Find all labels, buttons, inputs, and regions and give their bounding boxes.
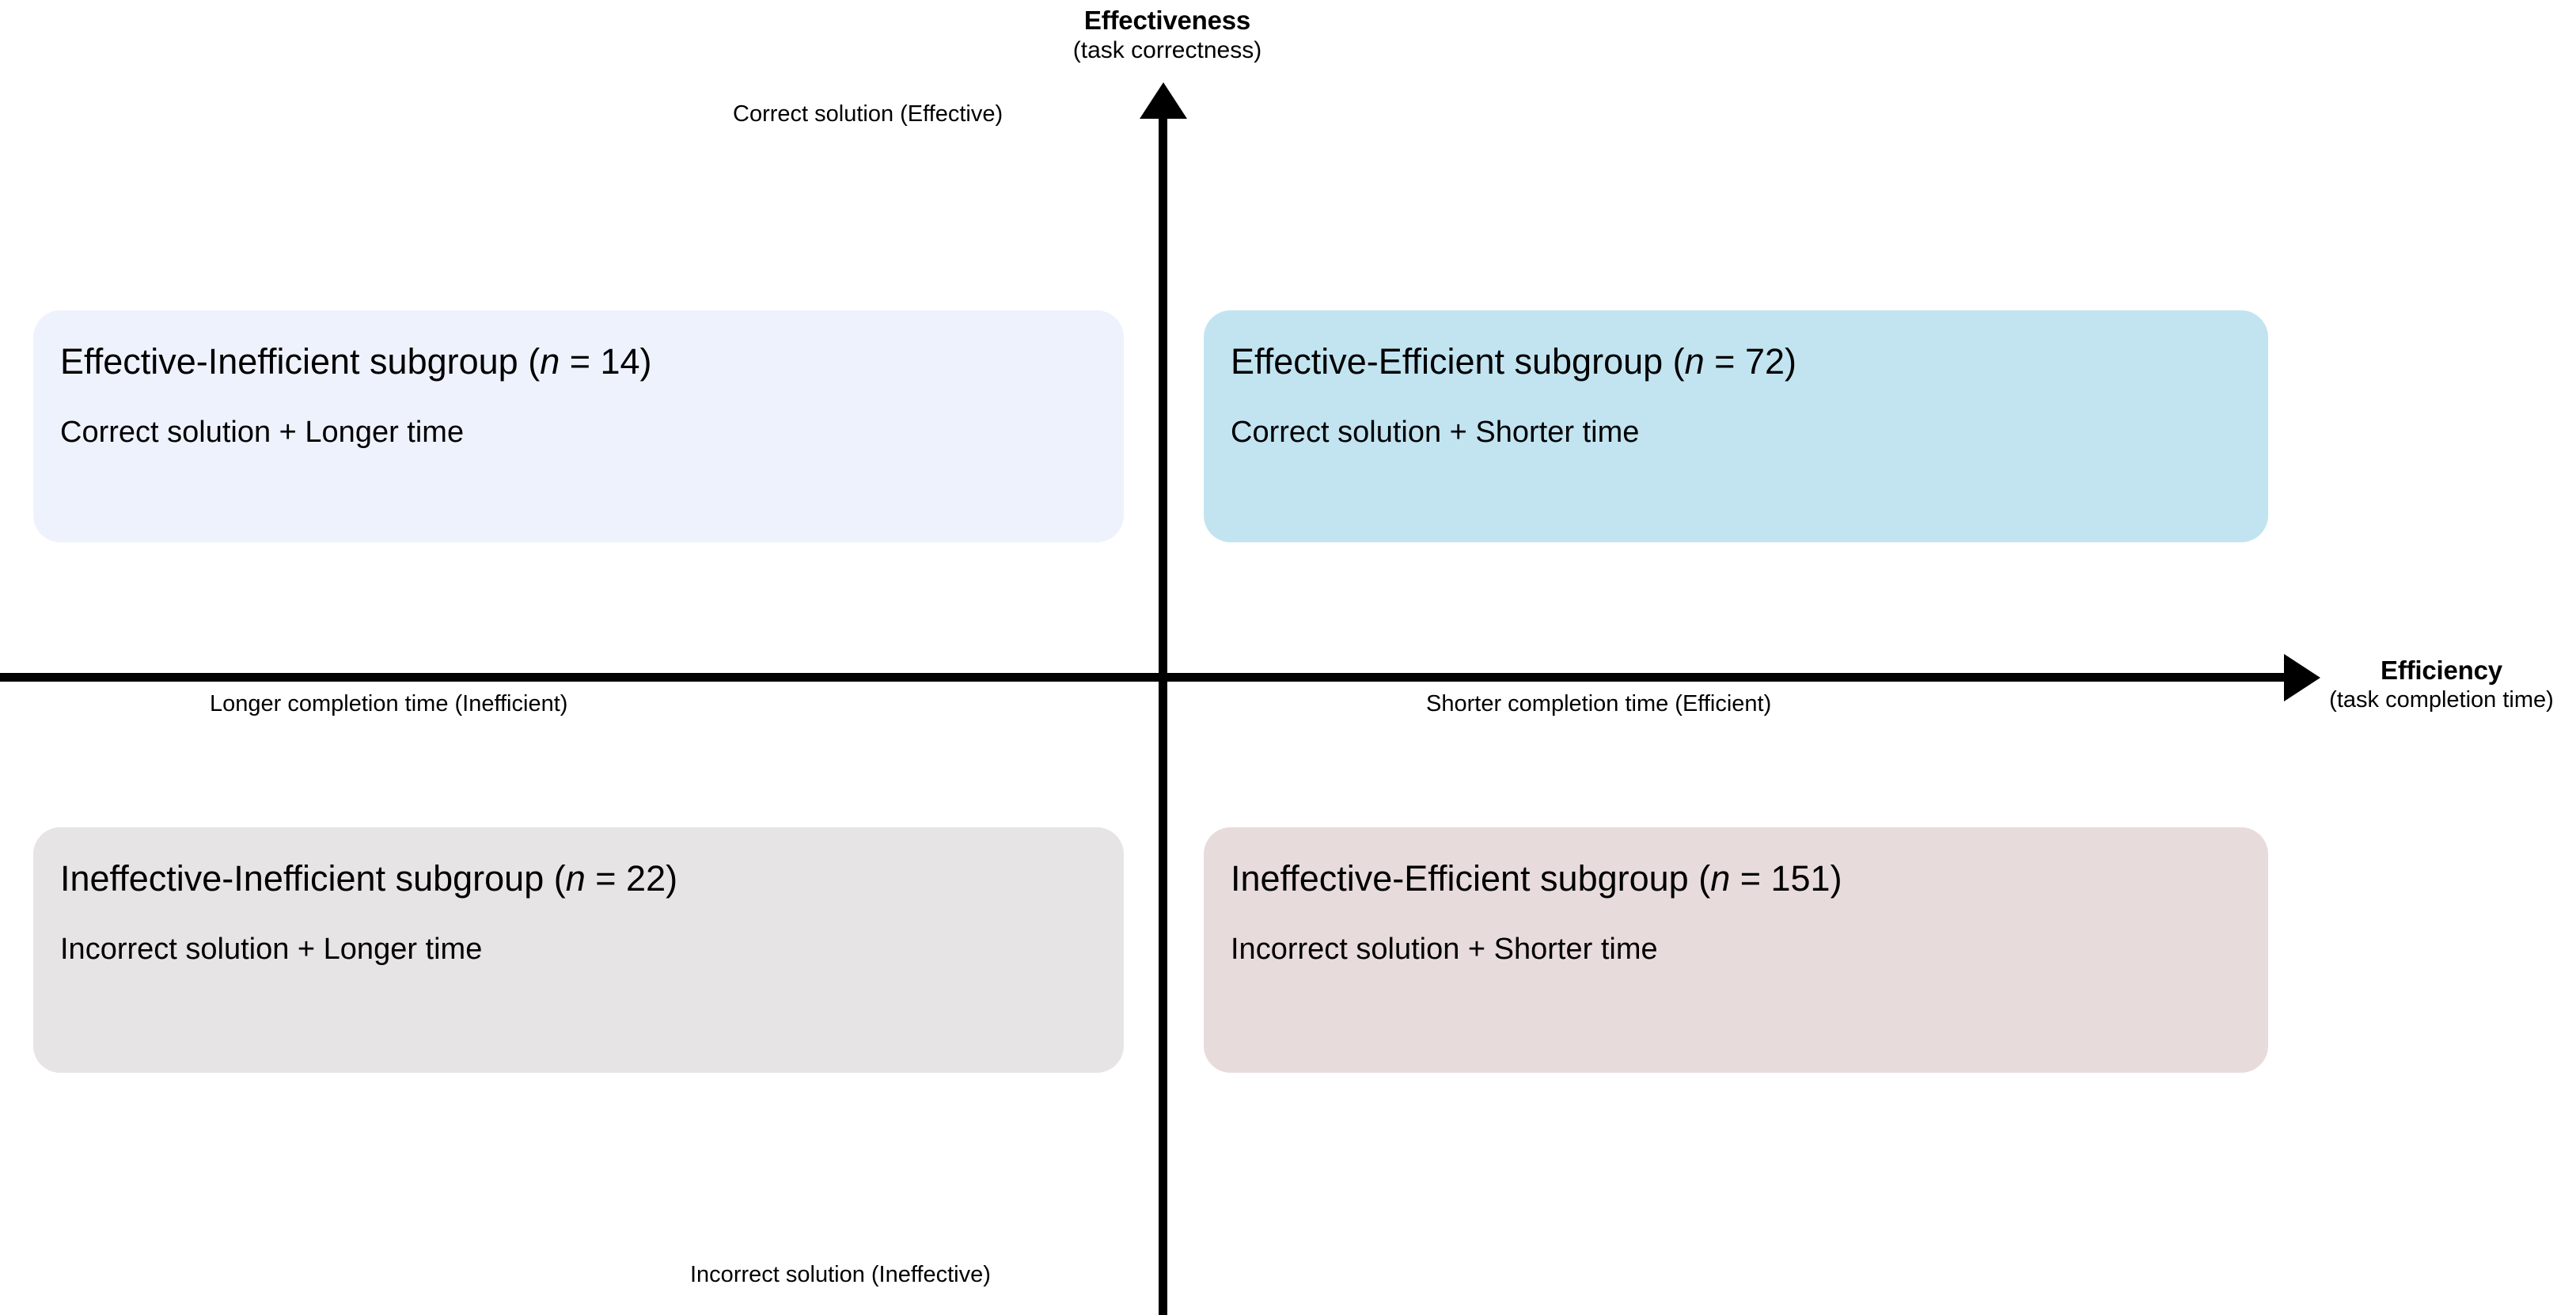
quadrant-title-prefix: Ineffective-Inefficient subgroup ( — [60, 858, 566, 899]
y-axis-title-main: Effectiveness — [819, 5, 1516, 36]
y-axis-positive-pole-label: Correct solution (Effective) — [733, 103, 1003, 126]
y-axis-arrow-icon — [1140, 82, 1187, 119]
x-axis-line — [0, 673, 2303, 682]
y-axis-title-subtitle: (task correctness) — [819, 36, 1516, 66]
quadrant-title-prefix: Ineffective-Efficient subgroup ( — [1231, 858, 1710, 899]
quadrant-n-symbol: n — [540, 341, 560, 382]
quadrant-title-prefix: Effective-Efficient subgroup ( — [1231, 341, 1685, 382]
quadrant-n-symbol: n — [1685, 341, 1705, 382]
quadrant-diagram-canvas: Effectiveness (task correctness) Efficie… — [0, 0, 2576, 1315]
x-axis-title: Efficiency (task completion time) — [2307, 655, 2576, 715]
quadrant-title-effective-inefficient: Effective-Inefficient subgroup (n = 14) — [60, 342, 1097, 382]
quadrant-description-effective-inefficient: Correct solution + Longer time — [60, 416, 1097, 450]
quadrant-title-effective-efficient: Effective-Efficient subgroup (n = 72) — [1231, 342, 2241, 382]
y-axis-negative-pole-label: Incorrect solution (Ineffective) — [690, 1264, 991, 1286]
quadrant-n-symbol: n — [1710, 858, 1730, 899]
quadrant-title-ineffective-inefficient: Ineffective-Inefficient subgroup (n = 22… — [60, 859, 1097, 899]
quadrant-title-ineffective-efficient: Ineffective-Efficient subgroup (n = 151) — [1231, 859, 2241, 899]
y-axis-title: Effectiveness (task correctness) — [819, 5, 1516, 66]
quadrant-card-effective-efficient: Effective-Efficient subgroup (n = 72) Co… — [1204, 310, 2268, 542]
quadrant-title-prefix: Effective-Inefficient subgroup ( — [60, 341, 540, 382]
x-axis-positive-pole-label: Shorter completion time (Efficient) — [1426, 693, 1771, 716]
quadrant-title-suffix: = 151) — [1730, 858, 1842, 899]
x-axis-negative-pole-label: Longer completion time (Inefficient) — [210, 693, 567, 716]
quadrant-description-ineffective-inefficient: Incorrect solution + Longer time — [60, 933, 1097, 967]
quadrant-card-ineffective-efficient: Ineffective-Efficient subgroup (n = 151)… — [1204, 827, 2268, 1073]
quadrant-n-symbol: n — [566, 858, 586, 899]
quadrant-description-effective-efficient: Correct solution + Shorter time — [1231, 416, 2241, 450]
x-axis-title-main: Efficiency — [2307, 655, 2576, 686]
quadrant-card-ineffective-inefficient: Ineffective-Inefficient subgroup (n = 22… — [33, 827, 1124, 1073]
x-axis-title-subtitle: (task completion time) — [2307, 686, 2576, 714]
quadrant-description-ineffective-efficient: Incorrect solution + Shorter time — [1231, 933, 2241, 967]
y-axis-line — [1159, 97, 1167, 1315]
quadrant-title-suffix: = 22) — [586, 858, 677, 899]
quadrant-card-effective-inefficient: Effective-Inefficient subgroup (n = 14) … — [33, 310, 1124, 542]
quadrant-title-suffix: = 72) — [1705, 341, 1796, 382]
quadrant-title-suffix: = 14) — [560, 341, 651, 382]
